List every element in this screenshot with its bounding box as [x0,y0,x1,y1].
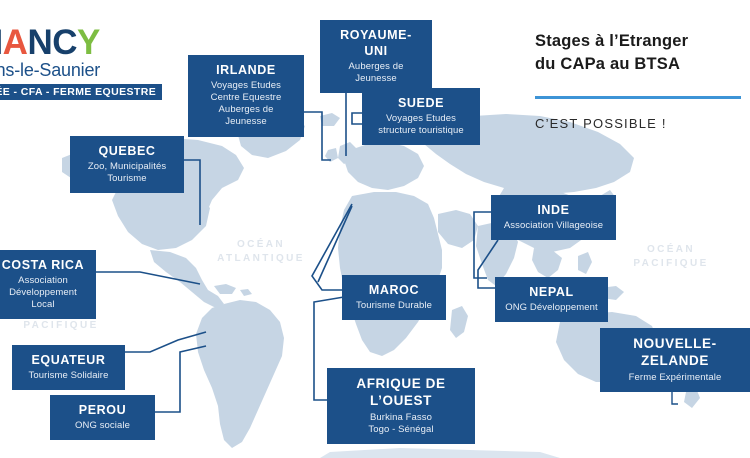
callout-quebec[interactable]: QUEBEC Zoo, Municipalités Tourisme [70,136,184,193]
callout-title: NOUVELLE-ZELANDE [609,335,741,370]
callout-subtitle: Auberges de Jeunesse [329,61,423,85]
callout-title: COSTA RICA [0,257,87,273]
callout-title: EQUATEUR [21,352,116,368]
callout-subtitle: Tourisme Solidaire [21,370,116,382]
callout-perou[interactable]: PEROU ONG sociale [50,395,155,440]
poster-root: OCÉAN ATLANTIQUE OCÉAN PACIFIQUE OCÉAN P… [0,0,750,458]
callout-subtitle: Tourisme Durable [351,300,437,312]
logo-letter-y: Y [77,23,100,62]
callout-subtitle: Burkina Fasso Togo - Sénégal [336,412,466,436]
callout-subtitle: Zoo, Municipalités Tourisme [79,161,175,185]
callout-subtitle: Voyages Etudes Centre Equestre Auberges … [197,80,295,129]
callout-irlande[interactable]: IRLANDE Voyages Etudes Centre Equestre A… [188,55,304,137]
callout-subtitle: Association Développement Local [0,275,87,311]
logo-letter-a: A [3,23,28,62]
logo-city: Lons-le-Saunier [0,60,174,80]
callout-afrique-de-louest[interactable]: AFRIQUE DE L’OUEST Burkina Fasso Togo - … [327,368,475,444]
callout-title: NEPAL [504,284,599,300]
callout-title: AFRIQUE DE L’OUEST [336,375,466,410]
callout-title: PEROU [59,402,146,418]
callout-maroc[interactable]: MAROC Tourisme Durable [342,275,446,320]
callout-subtitle: Ferme Expérimentale [609,372,741,384]
callout-costa-rica[interactable]: COSTA RICA Association Développement Loc… [0,250,96,319]
callout-title: IRLANDE [197,62,295,78]
callout-subtitle: Association Villageoise [500,220,607,232]
callout-subtitle: Voyages Etudes structure touristique [371,113,471,137]
callout-royaume-uni[interactable]: ROYAUME-UNI Auberges de Jeunesse [320,20,432,93]
page-title: Stages à l’Etranger du CAPa au BTSA [535,30,745,76]
logo-letters-nc: NC [27,23,77,62]
callout-equateur[interactable]: EQUATEUR Tourisme Solidaire [12,345,125,390]
school-logo: MANCY Lons-le-Saunier YCÉE - CFA - FERME… [0,24,174,100]
callout-title: SUEDE [371,95,471,111]
callout-subtitle: ONG sociale [59,420,146,432]
logo-tagline: YCÉE - CFA - FERME EQUESTRE [0,84,162,100]
callout-inde[interactable]: INDE Association Villageoise [491,195,616,240]
callout-nouvelle-zelande[interactable]: NOUVELLE-ZELANDE Ferme Expérimentale [600,328,750,392]
title-subtitle: C’EST POSSIBLE ! [535,116,745,131]
title-block: Stages à l’Etranger du CAPa au BTSA C’ES… [535,30,745,131]
callout-title: INDE [500,202,607,218]
callout-nepal[interactable]: NEPAL ONG Développement [495,277,608,322]
callout-subtitle: ONG Développement [504,302,599,314]
callout-suede[interactable]: SUEDE Voyages Etudes structure touristiq… [362,88,480,145]
title-divider [535,96,741,99]
callout-title: QUEBEC [79,143,175,159]
callout-title: ROYAUME-UNI [329,27,423,59]
callout-title: MAROC [351,282,437,298]
logo-wordmark: MANCY [0,24,174,62]
